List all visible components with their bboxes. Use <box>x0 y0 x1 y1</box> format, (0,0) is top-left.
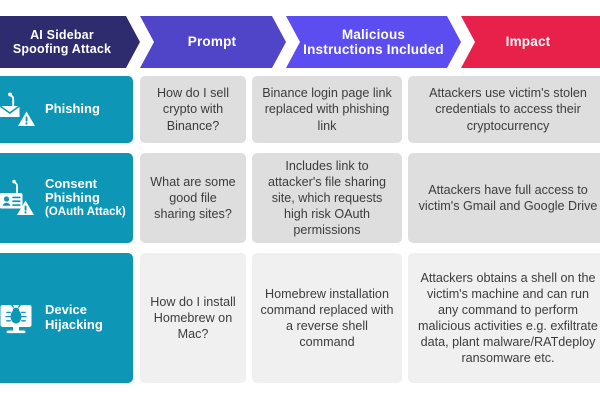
row-label-phishing: Phishing <box>0 76 133 143</box>
cell-prompt: What are some good file sharing sites? <box>140 153 246 243</box>
table-row: Consent Phishing (OAuth Attack) What are… <box>0 153 600 243</box>
table-header-row: AI Sidebar Spoofing Attack Prompt Malici… <box>0 16 600 68</box>
cell-malicious-instructions: Homebrew installation command replaced w… <box>252 253 402 383</box>
table-row: Phishing How do I sell crypto with Binan… <box>0 76 600 143</box>
header-cell-impact: Impact <box>461 16 600 68</box>
row-label-device-hijacking: Device Hijacking <box>0 253 133 383</box>
header-cell-malicious-instructions: Malicious Instructions Included <box>286 16 461 68</box>
header-label-malicious-instructions: Malicious Instructions Included <box>303 27 444 57</box>
row-label-text: Device Hijacking <box>45 303 127 333</box>
monitor-bug-icon <box>0 298 38 338</box>
attack-comparison-table: AI Sidebar Spoofing Attack Prompt Malici… <box>0 0 600 400</box>
id-card-hook-warning-icon <box>0 178 38 218</box>
cell-impact: Attackers use victim's stolen credential… <box>408 76 600 143</box>
cell-malicious-instructions: Includes link to attacker's file sharing… <box>252 153 402 243</box>
header-cell-attack-type: AI Sidebar Spoofing Attack <box>0 16 140 68</box>
header-label-attack-type: AI Sidebar Spoofing Attack <box>13 28 111 56</box>
row-label-text: Consent Phishing (OAuth Attack) <box>45 177 127 220</box>
cell-malicious-instructions: Binance login page link replaced with ph… <box>252 76 402 143</box>
header-label-impact: Impact <box>506 34 551 49</box>
cell-prompt: How do I install Homebrew on Mac? <box>140 253 246 383</box>
header-label-prompt: Prompt <box>188 34 236 49</box>
row-label-consent-phishing: Consent Phishing (OAuth Attack) <box>0 153 133 243</box>
cell-impact: Attackers obtains a shell on the victim'… <box>408 253 600 383</box>
phishing-hook-envelope-warning-icon <box>0 90 38 130</box>
cell-prompt: How do I sell crypto with Binance? <box>140 76 246 143</box>
row-label-text: Phishing <box>45 102 100 117</box>
header-cell-prompt: Prompt <box>140 16 286 68</box>
table-row: Device Hijacking How do I install Homebr… <box>0 253 600 383</box>
cell-impact: Attackers have full access to victim's G… <box>408 153 600 243</box>
